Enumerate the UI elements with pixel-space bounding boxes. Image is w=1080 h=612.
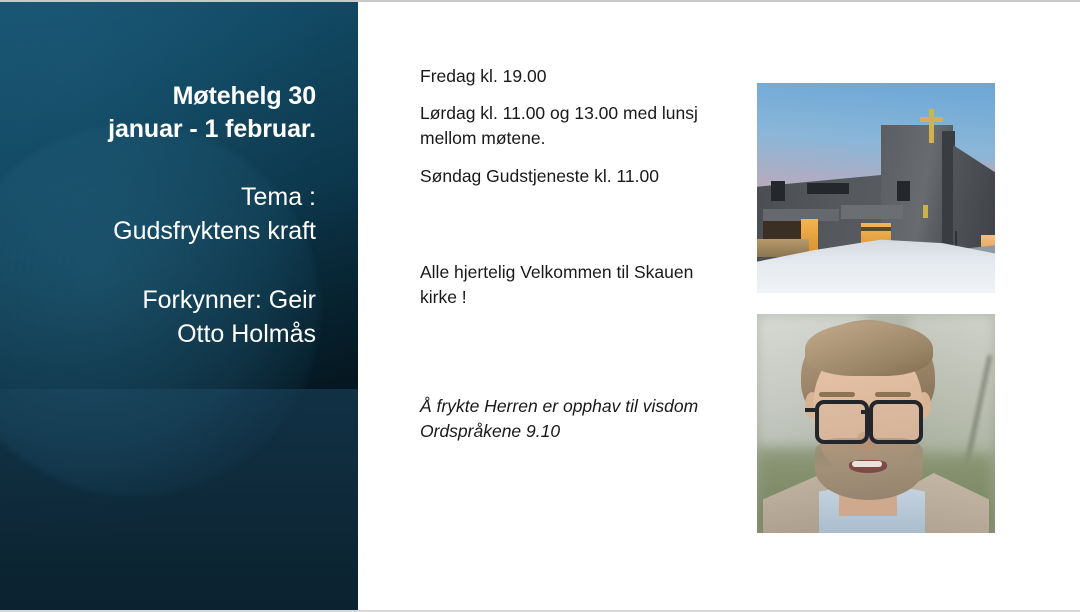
welcome-message: Alle hjertelig Velkommen til Skauen kirk… (420, 260, 720, 310)
glasses-temple-arm (805, 408, 817, 412)
church-entrance-canopy (841, 205, 903, 219)
speaker-label: Forkynner: Geir (26, 283, 316, 317)
theme-label: Tema : (26, 180, 316, 214)
church-photo (757, 83, 995, 293)
schedule-line-sunday: Søndag Gudstjeneste kl. 11.00 (420, 164, 710, 189)
theme-block: Tema : Gudsfryktens kraft (26, 180, 316, 248)
church-window-strip (807, 183, 849, 194)
left-info-panel: Møtehelg 30 januar - 1 februar. Tema : G… (0, 2, 358, 612)
panel-lower-band (0, 389, 358, 612)
portrait-teeth (852, 461, 882, 467)
event-title-line-1: Møtehelg 30 (26, 80, 316, 113)
glasses-lens-right (869, 400, 923, 444)
portrait-eyebrow-right (875, 392, 911, 397)
bible-verse: Å frykte Herren er opphav til visdom Ord… (420, 394, 720, 444)
event-title-line-2: januar - 1 februar. (26, 113, 316, 146)
cross-icon (929, 109, 934, 143)
church-yellow-accent (923, 205, 928, 218)
schedule-line-saturday: Lørdag kl. 11.00 og 13.00 med lunsj mell… (420, 101, 710, 151)
portrait-eyebrow-left (819, 392, 855, 397)
cross-icon-crossbar (920, 117, 943, 122)
speaker-value: Otto Holmås (26, 317, 316, 351)
speaker-portrait-photo (757, 314, 995, 533)
glasses-bridge (861, 410, 873, 414)
church-window-tower (897, 181, 910, 201)
portrait-hair-fringe (805, 322, 933, 376)
church-door-mullion (861, 227, 891, 231)
event-heading-block: Møtehelg 30 januar - 1 februar. Tema : G… (26, 80, 316, 351)
glasses-lens-left (815, 400, 869, 444)
church-window-left (771, 181, 785, 201)
schedule-text-block: Fredag kl. 19.00 Lørdag kl. 11.00 og 13.… (420, 64, 710, 201)
theme-value: Gudsfryktens kraft (26, 214, 316, 248)
speaker-block: Forkynner: Geir Otto Holmås (26, 283, 316, 351)
schedule-line-friday: Fredag kl. 19.00 (420, 64, 710, 89)
presentation-slide: Møtehelg 30 januar - 1 februar. Tema : G… (0, 0, 1080, 612)
